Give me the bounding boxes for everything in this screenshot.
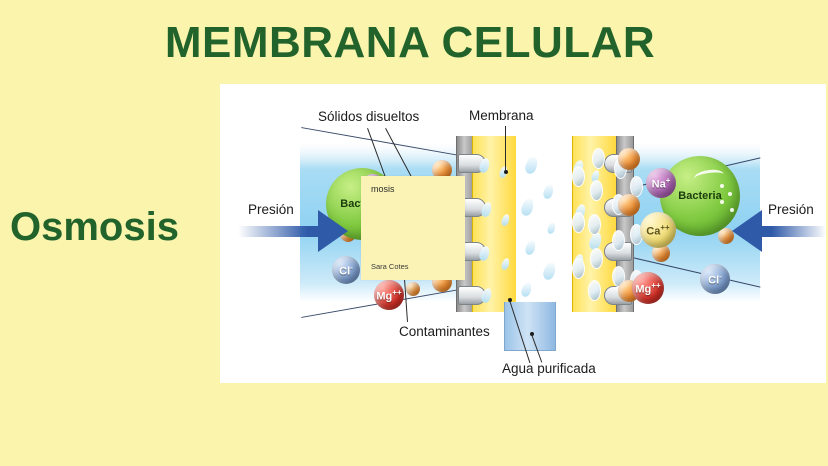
bacteria-right-label: Bacteria — [678, 190, 721, 202]
pressure-arrow-head-right — [732, 210, 762, 252]
bacteria-speck — [728, 192, 732, 196]
note-overlay-box[interactable]: mosis Sara Cotes — [361, 176, 465, 280]
ion-mg-left: Mg++ — [374, 280, 404, 310]
contaminant-particle — [590, 180, 603, 201]
leader-dot-membrana — [504, 170, 508, 174]
label-solidos-disueltos: Sólidos disueltos — [318, 109, 419, 124]
dissolved-solid-particle — [406, 282, 420, 296]
contaminant-particle — [612, 230, 625, 251]
contaminant-particle — [588, 214, 601, 235]
ion-mg-right: Mg++ — [632, 272, 664, 304]
note-overlay-author: Sara Cotes — [371, 262, 409, 271]
ion-cl-right: Cl- — [700, 264, 730, 294]
label-contaminantes: Contaminantes — [399, 324, 490, 339]
side-heading-osmosis: Osmosis — [10, 205, 179, 250]
dissolved-solid-particle — [618, 194, 640, 216]
label-presion-right: Presión — [768, 202, 814, 217]
contaminant-particle — [592, 148, 605, 169]
slide-canvas: MEMBRANA CELULAR Osmosis — [0, 0, 828, 466]
label-membrana: Membrana — [469, 108, 534, 123]
bacteria-speck — [720, 184, 724, 188]
pressure-arrow-shaft-left — [238, 226, 320, 237]
leader-line-membrana — [505, 126, 506, 172]
contaminant-particle — [572, 258, 585, 279]
note-overlay-top-text: mosis — [371, 184, 395, 194]
page-title: MEMBRANA CELULAR — [0, 18, 828, 68]
pressure-arrow-head-left — [318, 210, 348, 252]
osmosis-diagram-image: Bacteria Cl- Mg++ Bacteria Na+ Ca++ Mg++ — [220, 84, 826, 383]
ion-ca-right: Ca++ — [640, 212, 676, 248]
ion-na-right: Na+ — [646, 168, 676, 198]
contaminant-particle — [572, 212, 585, 233]
ion-cl-left: Cl- — [332, 256, 360, 284]
contaminant-particle — [572, 166, 585, 187]
contaminant-particle — [590, 248, 603, 269]
leader-dot-agua-top — [508, 298, 512, 302]
pressure-arrow-shaft-right — [762, 226, 826, 237]
bacteria-speck — [720, 200, 724, 204]
dissolved-solid-particle — [618, 148, 640, 170]
label-agua-purificada: Agua purificada — [502, 361, 596, 376]
label-presion-left: Presión — [248, 202, 294, 217]
contaminant-particle — [588, 280, 601, 301]
